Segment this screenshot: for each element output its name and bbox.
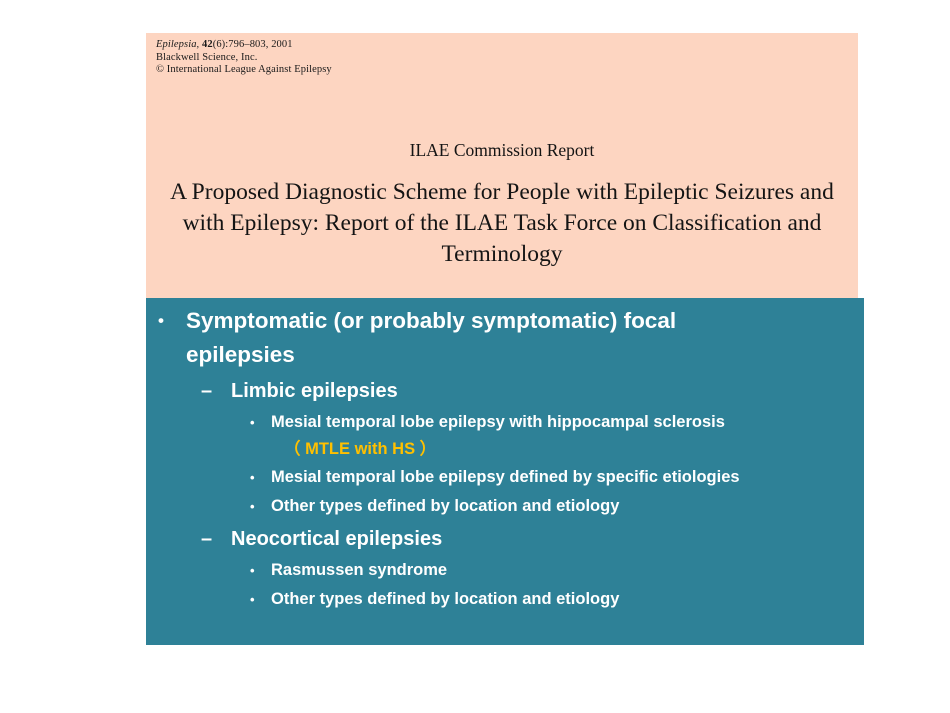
list-item: • Mesial temporal lobe epilepsy with hip… <box>250 407 864 462</box>
bullet-disc-icon: • <box>250 493 271 520</box>
journal-volume: 42 <box>202 39 213 50</box>
list-item: • Other types defined by location and et… <box>250 491 864 520</box>
mtle-hs-highlight: （ MTLE with HS ） <box>271 436 864 462</box>
slide-content-panel: • Symptomatic (or probably symptomatic) … <box>146 298 864 645</box>
journal-name: Epilepsia, <box>156 39 199 50</box>
list-item-label: Other types defined by location and etio… <box>271 493 864 520</box>
bullet-disc-icon: • <box>250 464 271 491</box>
list-item: – Limbic epilepsies <box>201 372 864 407</box>
bullet-disc-icon: • <box>250 586 271 613</box>
bullet-dash-icon: – <box>201 523 231 555</box>
journal-copyright: © International League Against Epilepsy <box>156 64 332 77</box>
list-item-body: Mesial temporal lobe epilepsy with hippo… <box>271 409 864 462</box>
bullet-dash-icon: – <box>201 375 231 407</box>
list-item: • Rasmussen syndrome <box>250 555 864 584</box>
article-header-panel: Epilepsia, 42(6):796–803, 2001 Blackwell… <box>146 33 858 298</box>
list-item: • Other types defined by location and et… <box>250 584 864 613</box>
commission-report-label: ILAE Commission Report <box>146 140 858 161</box>
journal-publisher: Blackwell Science, Inc. <box>156 52 332 65</box>
list-item: • Symptomatic (or probably symptomatic) … <box>158 298 864 372</box>
bullet-disc-icon: • <box>250 409 271 436</box>
list-item-label: Limbic epilepsies <box>231 375 864 407</box>
list-item-label: Symptomatic (or probably symptomatic) fo… <box>186 304 746 372</box>
journal-citation: Epilepsia, 42(6):796–803, 2001 Blackwell… <box>156 39 332 77</box>
list-item: – Neocortical epilepsies <box>201 520 864 555</box>
journal-citation-line-1: Epilepsia, 42(6):796–803, 2001 <box>156 39 332 52</box>
list-item-label: Mesial temporal lobe epilepsy with hippo… <box>271 413 725 431</box>
bullet-disc-icon: • <box>158 304 186 338</box>
list-item-label: Neocortical epilepsies <box>231 523 864 555</box>
list-item: • Mesial temporal lobe epilepsy defined … <box>250 462 864 491</box>
journal-issue-pages: (6):796–803, 2001 <box>213 39 293 50</box>
list-item-label: Other types defined by location and etio… <box>271 586 864 613</box>
list-item-label: Mesial temporal lobe epilepsy defined by… <box>271 464 864 491</box>
bullet-disc-icon: • <box>250 557 271 584</box>
article-title: A Proposed Diagnostic Scheme for People … <box>152 177 852 270</box>
list-item-label: Rasmussen syndrome <box>271 557 864 584</box>
